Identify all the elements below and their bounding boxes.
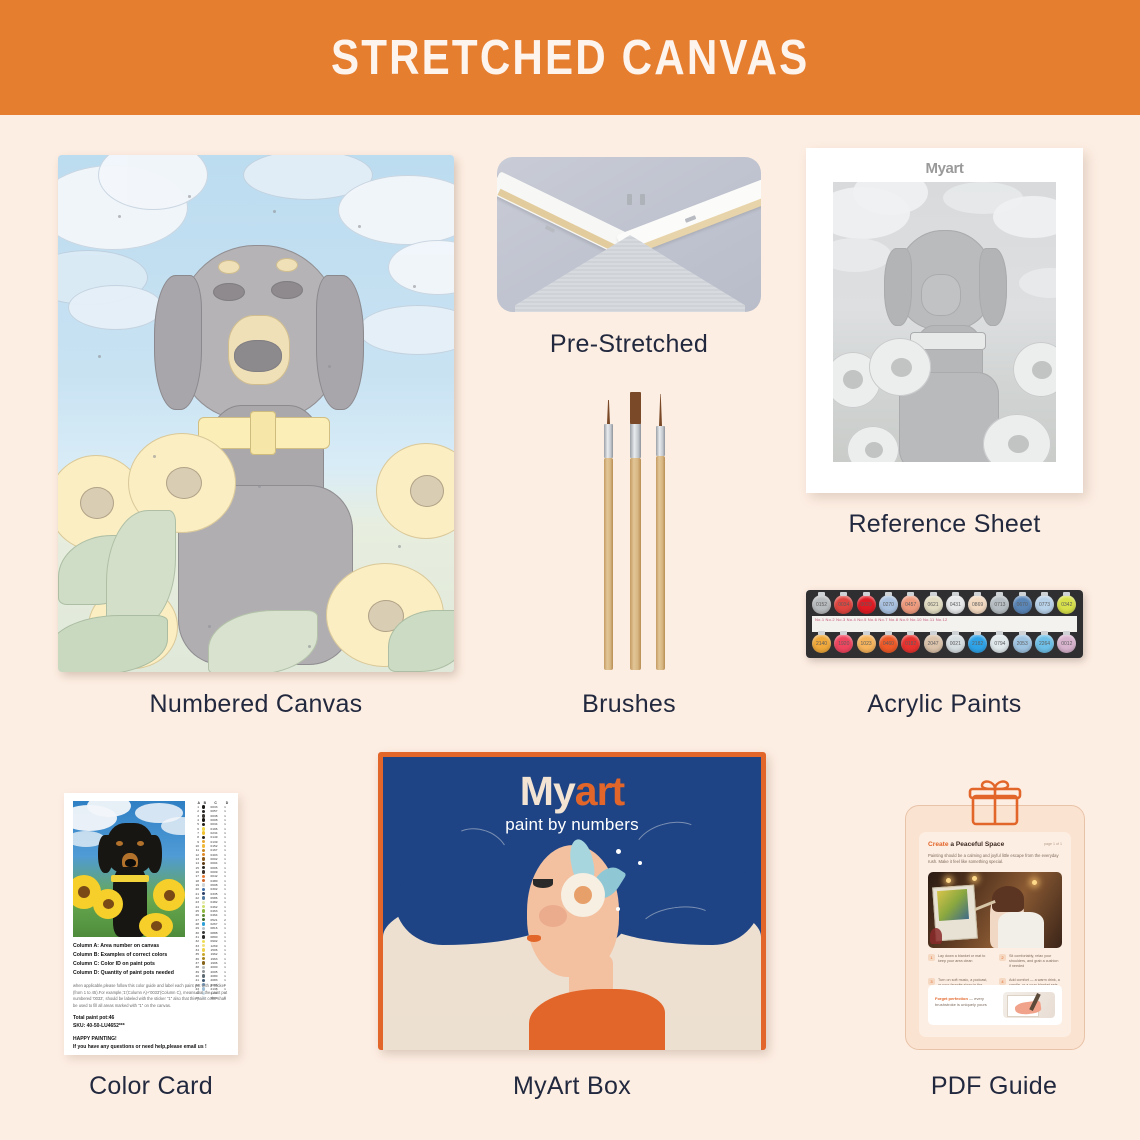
color-card-artwork bbox=[73, 801, 185, 937]
legend-column-b: Column B: Examples of correct colors bbox=[73, 952, 167, 958]
paint-pot[interactable]: 0869 bbox=[968, 595, 987, 614]
cell-color-swatch bbox=[200, 927, 207, 930]
myart-logo: Myart bbox=[383, 771, 761, 812]
cell-color-swatch bbox=[200, 935, 207, 938]
dog-brow-left bbox=[218, 260, 240, 274]
tip-text: Sit comfortably, relax your shoulders, a… bbox=[1009, 954, 1061, 970]
paint-pot[interactable]: 0794 bbox=[990, 634, 1009, 653]
paint-pot-id: 0021 bbox=[946, 634, 965, 653]
color-swatch bbox=[202, 875, 205, 878]
pre-stretched-image bbox=[497, 157, 761, 312]
color-swatch bbox=[202, 896, 205, 899]
cloud-shape bbox=[68, 285, 163, 330]
caption-brushes: Brushes bbox=[497, 690, 761, 719]
lips bbox=[527, 935, 541, 942]
sunflower-center bbox=[166, 467, 202, 499]
acrylic-paints-image: No.1 No.2 No.3 No.4 No.5 No.6 No.7 No.8 … bbox=[806, 590, 1083, 658]
paint-pot[interactable]: 0773 bbox=[1035, 595, 1054, 614]
paint-pot[interactable]: 2264 bbox=[1035, 634, 1054, 653]
tip-text: Lay down a blanket or mat to keep your a… bbox=[938, 954, 990, 964]
paint-pot-id: 0182 bbox=[901, 634, 920, 653]
color-swatch bbox=[202, 957, 205, 960]
color-swatch bbox=[202, 974, 205, 977]
color-swatch bbox=[202, 901, 205, 904]
cell-color-swatch bbox=[200, 827, 207, 830]
paint-pot-id: 0794 bbox=[990, 634, 1009, 653]
color-swatch bbox=[202, 961, 205, 964]
paint-pot[interactable]: 1023 bbox=[857, 634, 876, 653]
pdf-guide-page-number: page 1 of 1 bbox=[1044, 842, 1062, 846]
cell-color-swatch bbox=[200, 922, 207, 925]
caption-color-card: Color Card bbox=[52, 1072, 250, 1101]
heading-rest: a Peaceful Space bbox=[949, 841, 1005, 848]
reference-sheet-artwork bbox=[833, 182, 1056, 462]
color-swatch bbox=[202, 831, 205, 834]
color-swatch bbox=[202, 909, 205, 912]
staple bbox=[545, 225, 556, 233]
paint-pot-id: 0621 bbox=[924, 595, 943, 614]
paint-pot[interactable]: 0457 bbox=[901, 595, 920, 614]
color-swatch bbox=[202, 892, 205, 895]
paint-pot[interactable]: 0621 bbox=[924, 595, 943, 614]
paint-pot[interactable]: 0342 bbox=[1057, 595, 1076, 614]
pdf-guide-image: Create a Peaceful Space page 1 of 1 Pain… bbox=[905, 805, 1085, 1050]
paint-tray-label-strip: No.1 No.2 No.3 No.4 No.5 No.6 No.7 No.8 … bbox=[812, 616, 1077, 632]
color-swatch bbox=[202, 979, 205, 982]
paint-pot[interactable]: 0182 bbox=[901, 634, 920, 653]
paint-pot-id: 0270 bbox=[879, 595, 898, 614]
legend-column-a: Column A: Area number on canvas bbox=[73, 943, 159, 949]
color-swatch bbox=[202, 931, 205, 934]
reference-sheet-logo: Myart bbox=[806, 160, 1083, 177]
cell-color-swatch bbox=[200, 979, 207, 982]
logo-my: My bbox=[520, 768, 575, 814]
cell-color-swatch bbox=[200, 957, 207, 960]
dog-ear-left bbox=[154, 275, 202, 410]
paint-pot[interactable]: 0029 bbox=[857, 595, 876, 614]
color-swatch bbox=[202, 827, 205, 830]
legend-column-d: Column D: Quantity of paint pots needed bbox=[73, 970, 174, 976]
sparkle-dot bbox=[616, 907, 620, 911]
brushes-image bbox=[586, 388, 686, 670]
cell-color-swatch bbox=[200, 875, 207, 878]
color-swatch bbox=[202, 862, 205, 865]
sku-text: SKU: 40-50-LU4652*** bbox=[73, 1023, 125, 1029]
numbered-canvas-image bbox=[58, 155, 454, 672]
myart-box-face: Myart paint by numbers bbox=[383, 757, 761, 1050]
color-swatch bbox=[202, 927, 205, 930]
cell-color-swatch bbox=[200, 831, 207, 834]
tip-item: 1 Lay down a blanket or mat to keep your… bbox=[928, 954, 990, 964]
color-swatch bbox=[202, 870, 205, 873]
heading-highlight: Create bbox=[928, 841, 949, 848]
color-swatch bbox=[202, 849, 205, 852]
caption-pdf-guide: PDF Guide bbox=[894, 1072, 1094, 1101]
color-swatch bbox=[202, 953, 205, 956]
caption-myart-box: MyArt Box bbox=[378, 1072, 766, 1101]
tip-number: 4 bbox=[999, 978, 1006, 985]
cell-color-swatch bbox=[200, 909, 207, 912]
cell-color-swatch bbox=[200, 862, 207, 865]
total-paint-pot: Total paint pot:46 bbox=[73, 1015, 114, 1021]
color-swatch bbox=[202, 888, 205, 891]
paint-pot-id: 0034 bbox=[834, 595, 853, 614]
logo-art: art bbox=[575, 768, 624, 814]
pdf-guide-subtitle: Painting should be a calming and joyful … bbox=[928, 853, 1062, 865]
color-swatch bbox=[202, 970, 205, 973]
paint-pot-id: 0869 bbox=[968, 595, 987, 614]
cell-color-swatch bbox=[200, 905, 207, 908]
color-swatch bbox=[202, 922, 205, 925]
tip-number: 3 bbox=[928, 978, 935, 985]
color-swatch bbox=[202, 940, 205, 943]
dog-nose bbox=[234, 340, 282, 372]
sparkle-dot bbox=[616, 849, 621, 854]
paint-pot-id: 0152 bbox=[812, 595, 831, 614]
collar-buckle bbox=[250, 411, 276, 455]
paint-pot[interactable]: 0034 bbox=[834, 595, 853, 614]
paint-pot[interactable]: 2182 bbox=[968, 634, 987, 653]
contact-text: If you have any questions or need help,p… bbox=[73, 1044, 207, 1050]
cell-color-swatch bbox=[200, 953, 207, 956]
paint-pot[interactable]: 2140 bbox=[812, 634, 831, 653]
color-swatch bbox=[202, 948, 205, 951]
paint-pot[interactable]: 0270 bbox=[879, 595, 898, 614]
infographic-page: STRETCHED CANVAS bbox=[0, 0, 1140, 1140]
gift-icon bbox=[968, 778, 1022, 826]
brush-flat bbox=[630, 392, 641, 670]
color-swatch bbox=[202, 879, 205, 882]
paint-pot[interactable]: 0713 bbox=[990, 595, 1009, 614]
cell-color-swatch bbox=[200, 879, 207, 882]
cell-color-swatch bbox=[200, 870, 207, 873]
paint-pot[interactable]: 0460 bbox=[879, 634, 898, 653]
header-banner: STRETCHED CANVAS bbox=[0, 0, 1140, 115]
paint-pot[interactable]: 2053 bbox=[1013, 634, 1032, 653]
cell-color-swatch bbox=[200, 814, 207, 817]
paint-pot[interactable]: 0012 bbox=[1057, 634, 1076, 653]
color-swatch bbox=[202, 905, 205, 908]
cell-color-swatch bbox=[200, 974, 207, 977]
closed-eye bbox=[533, 879, 553, 888]
paint-pot-id: 2053 bbox=[1013, 634, 1032, 653]
paint-pot-id: 0457 bbox=[901, 595, 920, 614]
caption-acrylic-paints: Acrylic Paints bbox=[806, 690, 1083, 719]
paint-pot-id: 1920 bbox=[834, 634, 853, 653]
color-swatch bbox=[202, 823, 205, 826]
cell-color-swatch bbox=[200, 966, 207, 969]
happy-painting-text: HAPPY PAINTING! bbox=[73, 1036, 117, 1042]
color-swatch bbox=[202, 944, 205, 947]
paint-pot[interactable]: 0152 bbox=[812, 595, 831, 614]
tip-number: 1 bbox=[928, 954, 935, 961]
cell-color-swatch bbox=[200, 931, 207, 934]
footer-bold: Forget perfection bbox=[935, 996, 968, 1001]
color-swatch bbox=[202, 818, 205, 821]
cell-color-swatch bbox=[200, 961, 207, 964]
paint-pot[interactable]: 0431 bbox=[946, 595, 965, 614]
cell-color-swatch bbox=[200, 970, 207, 973]
sunflower-center bbox=[80, 487, 114, 519]
color-swatch bbox=[202, 918, 205, 921]
cell-color-swatch bbox=[200, 866, 207, 869]
cell-color-swatch bbox=[200, 944, 207, 947]
pdf-guide-photo bbox=[928, 872, 1062, 948]
paint-pot[interactable]: 2047 bbox=[924, 634, 943, 653]
dog-brow-right bbox=[276, 258, 298, 272]
cell-color-swatch bbox=[200, 836, 207, 839]
caption-reference-sheet: Reference Sheet bbox=[806, 510, 1083, 539]
staple bbox=[627, 194, 632, 205]
color-swatch bbox=[202, 810, 205, 813]
myart-box-image: Myart paint by numbers bbox=[378, 752, 766, 1050]
pdf-guide-heading: Create a Peaceful Space bbox=[928, 841, 1004, 848]
paint-pot-id: 0342 bbox=[1057, 595, 1076, 614]
cell-color-swatch bbox=[200, 840, 207, 843]
cell-color-swatch bbox=[200, 853, 207, 856]
cell-color-swatch bbox=[200, 805, 207, 808]
cell-color-swatch bbox=[200, 818, 207, 821]
cell-color-swatch bbox=[200, 901, 207, 904]
color-swatch bbox=[202, 857, 205, 860]
color-swatch bbox=[202, 814, 205, 817]
cell-color-swatch bbox=[200, 849, 207, 852]
color-swatch bbox=[202, 836, 205, 839]
paint-pot-id: 0029 bbox=[857, 595, 876, 614]
color-swatch bbox=[202, 966, 205, 969]
paint-pot-id: 0773 bbox=[1035, 595, 1054, 614]
paint-pot-id: 0713 bbox=[990, 595, 1009, 614]
cell-color-swatch bbox=[200, 883, 207, 886]
color-swatch bbox=[202, 844, 205, 847]
footer-photo bbox=[1003, 992, 1055, 1018]
myart-tagline: paint by numbers bbox=[383, 815, 761, 835]
paint-pot-id: 0012 bbox=[1057, 634, 1076, 653]
sunflower-center bbox=[410, 475, 444, 507]
cell-color-swatch bbox=[200, 896, 207, 899]
reference-sheet-image: Myart bbox=[806, 148, 1083, 493]
dog-eye-right bbox=[271, 281, 303, 299]
cell-color-swatch bbox=[200, 948, 207, 951]
paint-pot[interactable]: 0670 bbox=[1013, 595, 1032, 614]
cell-color-swatch bbox=[200, 810, 207, 813]
paint-tray-label-text: No.1 No.2 No.3 No.4 No.5 No.6 No.7 No.8 … bbox=[815, 617, 947, 622]
dog-ear-right bbox=[316, 275, 364, 410]
color-swatch bbox=[202, 866, 205, 869]
canvas-back-weave bbox=[515, 235, 745, 312]
legend-column-c: Column C: Color ID on paint pots bbox=[73, 961, 155, 967]
color-swatch bbox=[202, 883, 205, 886]
cell-color-swatch bbox=[200, 892, 207, 895]
color-card-image: A B C D 10033120057130038140008150034160… bbox=[64, 793, 238, 1055]
paint-pot-id: 0670 bbox=[1013, 595, 1032, 614]
cell-color-swatch bbox=[200, 888, 207, 891]
paint-pot[interactable]: 0021 bbox=[946, 634, 965, 653]
tip-item: 2 Sit comfortably, relax your shoulders,… bbox=[999, 954, 1061, 970]
dog-eye-left bbox=[213, 283, 245, 301]
color-swatch bbox=[202, 840, 205, 843]
cell-color-swatch bbox=[200, 844, 207, 847]
paint-pot-id: 0431 bbox=[946, 595, 965, 614]
caption-numbered-canvas: Numbered Canvas bbox=[58, 690, 454, 719]
page-title: STRETCHED CANVAS bbox=[331, 30, 809, 86]
paint-pot-id: 1023 bbox=[857, 634, 876, 653]
paint-pot-id: 2047 bbox=[924, 634, 943, 653]
paint-pot[interactable]: 1920 bbox=[834, 634, 853, 653]
cheek-blush bbox=[539, 905, 567, 927]
color-swatch bbox=[202, 853, 205, 856]
paint-pot-id: 0460 bbox=[879, 634, 898, 653]
color-card-table: A B C D 10033120057130038140008150034160… bbox=[192, 801, 232, 1000]
paint-pot-id: 2264 bbox=[1035, 634, 1054, 653]
footer-text: Forget perfection — every brushstroke is… bbox=[935, 996, 1001, 1008]
paint-pot-id: 2182 bbox=[968, 634, 987, 653]
daisy-center bbox=[574, 886, 592, 904]
staple bbox=[640, 194, 645, 205]
paint-pot-id: 2140 bbox=[812, 634, 831, 653]
color-swatch bbox=[202, 935, 205, 938]
cell-color-swatch bbox=[200, 857, 207, 860]
caption-pre-stretched: Pre-Stretched bbox=[497, 330, 761, 359]
color-swatch bbox=[202, 914, 205, 917]
cell-color-swatch bbox=[200, 914, 207, 917]
shirt bbox=[529, 989, 665, 1050]
cell-color-swatch bbox=[200, 940, 207, 943]
cell-color-swatch bbox=[200, 823, 207, 826]
brush-round-medium bbox=[656, 394, 665, 670]
color-swatch bbox=[202, 805, 205, 808]
color-card-note: when applicable,please follow this color… bbox=[73, 983, 229, 1009]
cell-color-swatch bbox=[200, 918, 207, 921]
pdf-guide-page: Create a Peaceful Space page 1 of 1 Pain… bbox=[919, 832, 1071, 1037]
brush-round-small bbox=[604, 412, 613, 670]
tip-number: 2 bbox=[999, 954, 1006, 961]
pdf-guide-footer: Forget perfection — every brushstroke is… bbox=[928, 985, 1062, 1025]
